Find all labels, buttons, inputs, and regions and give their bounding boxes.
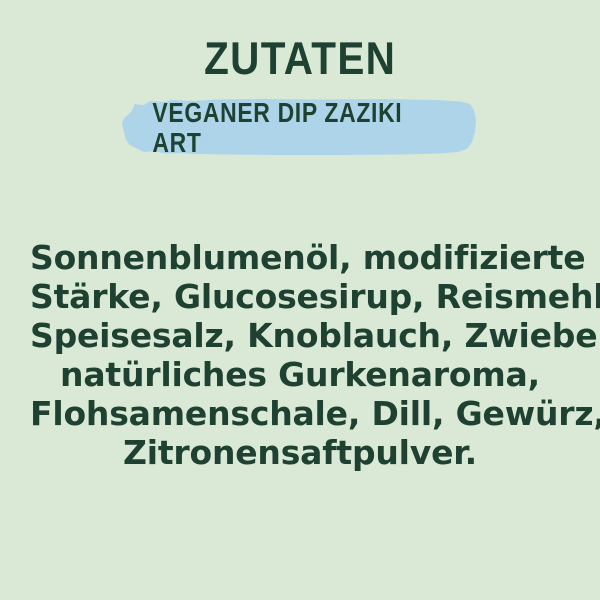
ingredient-line: Speisesalz, Knoblauch, Zwiebel, <box>30 316 570 355</box>
ingredient-line: Flohsamenschale, Dill, Gewürz, <box>30 394 570 433</box>
ingredient-line: Stärke, Glucosesirup, Reismehl, <box>30 277 570 316</box>
ingredient-line: Zitronensaftpulver. <box>30 433 570 472</box>
ingredient-line: Sonnenblumenöl, modifizierte <box>30 238 570 277</box>
page-title: ZUTATEN <box>204 34 396 82</box>
ingredient-line: natürliches Gurkenaroma, <box>30 355 570 394</box>
banner-subtitle: VEGANER DIP ZAZIKI ART <box>152 98 447 156</box>
subtitle-banner: VEGANER DIP ZAZIKI ART <box>120 98 480 156</box>
ingredients-label-card: ZUTATEN VEGANER DIP ZAZIKI ART Sonnenblu… <box>0 0 600 600</box>
ingredients-block: Sonnenblumenöl, modifizierte Stärke, Glu… <box>30 238 570 472</box>
title-block: ZUTATEN <box>0 34 600 82</box>
